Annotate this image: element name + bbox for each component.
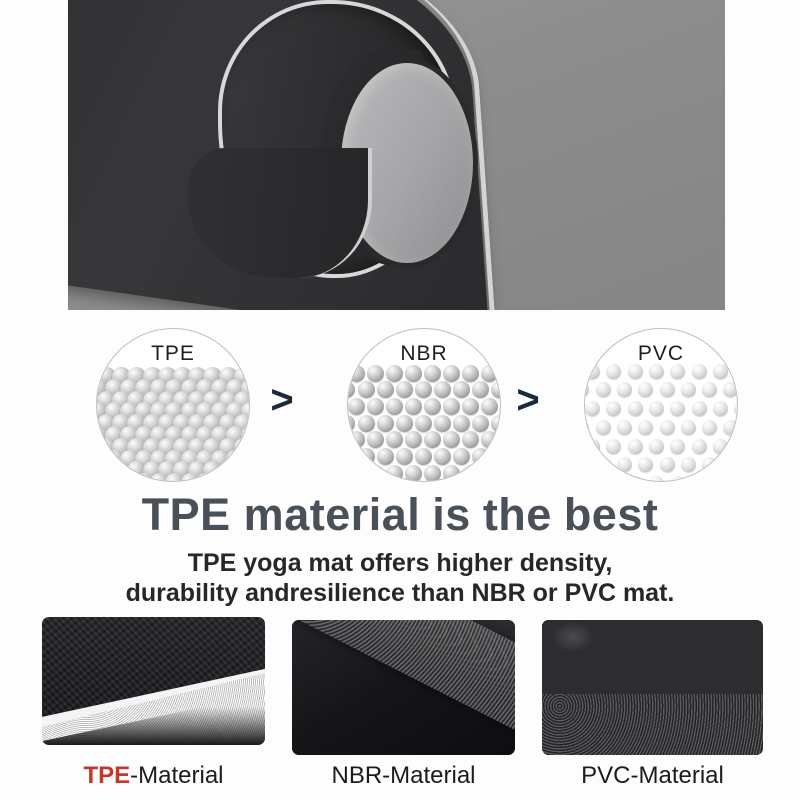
density-sphere — [670, 439, 685, 454]
density-sphere — [347, 448, 355, 465]
density-sphere — [681, 420, 696, 435]
pvc-quilted-surface — [542, 620, 763, 697]
sphere-field-tpe — [97, 373, 249, 481]
density-sphere — [386, 431, 403, 448]
density-sphere — [692, 401, 707, 416]
density-sphere — [453, 381, 470, 398]
density-sphere — [443, 431, 460, 448]
infographic-page: TPE > NBR > PVC TPE materialisthebest TP… — [0, 0, 800, 800]
density-sphere — [702, 457, 717, 472]
density-circle-label-pvc: PVC — [585, 342, 737, 366]
headline-part-4: best — [564, 489, 659, 540]
subtitle-line-2: durability andresilience than NBR or PVC… — [0, 578, 800, 608]
density-sphere — [628, 401, 643, 416]
density-sphere — [424, 431, 441, 448]
sphere-field-nbr — [348, 373, 500, 481]
density-sphere — [638, 382, 653, 397]
greater-than-icon-1: > — [262, 380, 302, 420]
nbr-gloss-overlay — [292, 620, 515, 755]
density-sphere — [386, 398, 403, 415]
density-sphere — [617, 382, 632, 397]
density-sphere — [249, 391, 250, 410]
density-sphere — [249, 438, 250, 457]
density-sphere — [491, 448, 501, 465]
density-sphere — [424, 365, 441, 382]
density-sphere — [405, 398, 422, 415]
density-sphere — [405, 365, 422, 382]
density-sphere — [367, 365, 384, 382]
density-sphere — [734, 401, 738, 416]
density-sphere — [367, 465, 384, 482]
density-sphere — [491, 415, 501, 432]
density-circle-label-nbr: NBR — [348, 342, 500, 366]
density-sphere — [249, 367, 250, 386]
density-sphere — [367, 398, 384, 415]
density-sphere — [734, 439, 738, 454]
density-sphere — [491, 381, 501, 398]
density-sphere — [660, 457, 675, 472]
density-sphere — [462, 398, 479, 415]
density-sphere — [453, 415, 470, 432]
density-sphere — [472, 448, 489, 465]
density-sphere — [472, 415, 489, 432]
density-circle-nbr: NBR — [347, 328, 501, 482]
density-sphere — [396, 381, 413, 398]
material-caption-pvc: PVC-Material — [542, 762, 763, 790]
density-sphere — [377, 448, 394, 465]
density-sphere — [462, 465, 479, 482]
density-sphere — [500, 365, 501, 382]
density-comparison-row: TPE > NBR > PVC — [0, 328, 800, 486]
density-sphere — [606, 439, 621, 454]
density-sphere — [386, 365, 403, 382]
headline: TPE materialisthebest — [0, 489, 800, 541]
material-photo-tpe — [42, 617, 265, 745]
density-sphere — [434, 481, 451, 482]
density-sphere — [358, 381, 375, 398]
density-sphere — [481, 398, 498, 415]
density-sphere — [660, 382, 675, 397]
headline-part-3: the — [483, 489, 552, 540]
material-caption-nbr: NBR-Material — [292, 762, 515, 790]
material-caption-tpe: TPE-Material — [42, 762, 265, 790]
density-sphere — [249, 461, 250, 480]
density-sphere — [713, 476, 728, 482]
density-sphere — [472, 481, 489, 482]
density-sphere — [396, 448, 413, 465]
density-sphere — [649, 401, 664, 416]
density-sphere — [377, 415, 394, 432]
density-sphere — [415, 481, 432, 482]
density-sphere — [347, 415, 355, 432]
density-sphere — [584, 457, 589, 472]
greater-than-icon-2: > — [508, 380, 548, 420]
density-sphere — [660, 420, 675, 435]
hero-rolled-mat-photo — [68, 0, 725, 310]
density-sphere — [596, 382, 611, 397]
subtitle-line-1: TPE yoga mat offers higher density, — [0, 548, 800, 578]
density-sphere — [415, 381, 432, 398]
density-sphere — [723, 382, 738, 397]
material-caption-accent-pvc: PVC — [581, 762, 630, 789]
density-sphere — [377, 381, 394, 398]
density-sphere — [405, 465, 422, 482]
density-sphere — [358, 415, 375, 432]
density-sphere — [481, 465, 498, 482]
density-sphere — [702, 382, 717, 397]
density-sphere — [734, 476, 738, 482]
density-sphere — [596, 420, 611, 435]
density-sphere — [606, 401, 621, 416]
density-sphere — [585, 476, 600, 482]
density-sphere — [617, 420, 632, 435]
density-sphere — [670, 476, 685, 482]
density-sphere — [702, 420, 717, 435]
density-sphere — [692, 476, 707, 482]
density-circle-label-tpe: TPE — [97, 342, 249, 366]
density-sphere — [358, 481, 375, 482]
density-circle-tpe: TPE — [96, 328, 250, 482]
headline-part-2: is — [432, 489, 471, 540]
material-photo-pvc — [542, 620, 763, 755]
density-sphere — [249, 414, 250, 433]
density-sphere — [434, 448, 451, 465]
density-sphere — [443, 365, 460, 382]
material-caption-rest-pvc: -Material — [631, 762, 724, 789]
density-sphere — [713, 439, 728, 454]
density-sphere — [424, 465, 441, 482]
density-sphere — [462, 431, 479, 448]
density-sphere — [348, 465, 365, 482]
density-sphere — [434, 381, 451, 398]
density-sphere — [453, 481, 470, 482]
density-sphere — [348, 365, 365, 382]
density-sphere — [396, 415, 413, 432]
density-sphere — [377, 481, 394, 482]
density-sphere — [670, 401, 685, 416]
density-sphere — [500, 465, 501, 482]
density-sphere — [628, 439, 643, 454]
density-sphere — [347, 481, 355, 482]
density-sphere — [500, 398, 501, 415]
density-sphere — [606, 476, 621, 482]
density-sphere — [453, 448, 470, 465]
density-sphere — [462, 365, 479, 382]
material-caption-accent-nbr: NBR — [331, 762, 382, 789]
density-sphere — [396, 481, 413, 482]
sphere-field-pvc — [585, 373, 737, 481]
density-sphere — [681, 382, 696, 397]
density-sphere — [585, 439, 600, 454]
headline-part-1: TPE material — [142, 489, 421, 540]
density-sphere — [386, 465, 403, 482]
pvc-crumb-texture — [542, 694, 763, 755]
density-sphere — [491, 481, 501, 482]
material-caption-accent-tpe: TPE — [83, 762, 130, 789]
density-sphere — [649, 439, 664, 454]
density-sphere — [584, 420, 589, 435]
density-sphere — [415, 448, 432, 465]
density-sphere — [723, 457, 738, 472]
density-sphere — [443, 398, 460, 415]
density-sphere — [405, 431, 422, 448]
density-sphere — [415, 415, 432, 432]
material-caption-rest-tpe: -Material — [130, 762, 223, 789]
density-sphere — [348, 398, 365, 415]
density-sphere — [481, 431, 498, 448]
density-sphere — [638, 420, 653, 435]
density-sphere — [628, 476, 643, 482]
density-sphere — [481, 365, 498, 382]
density-sphere — [649, 476, 664, 482]
density-sphere — [584, 382, 589, 397]
density-circle-pvc: PVC — [584, 328, 738, 482]
material-photo-nbr — [292, 620, 515, 755]
density-sphere — [585, 401, 600, 416]
density-sphere — [638, 457, 653, 472]
density-sphere — [472, 381, 489, 398]
density-sphere — [713, 401, 728, 416]
density-sphere — [348, 431, 365, 448]
density-sphere — [367, 431, 384, 448]
density-sphere — [347, 381, 355, 398]
density-sphere — [692, 439, 707, 454]
density-sphere — [434, 415, 451, 432]
density-sphere — [723, 420, 738, 435]
density-sphere — [443, 465, 460, 482]
density-sphere — [617, 457, 632, 472]
density-sphere — [596, 457, 611, 472]
density-sphere — [424, 398, 441, 415]
density-sphere — [500, 431, 501, 448]
density-sphere — [681, 457, 696, 472]
density-sphere — [358, 448, 375, 465]
material-caption-rest-nbr: -Material — [382, 762, 475, 789]
